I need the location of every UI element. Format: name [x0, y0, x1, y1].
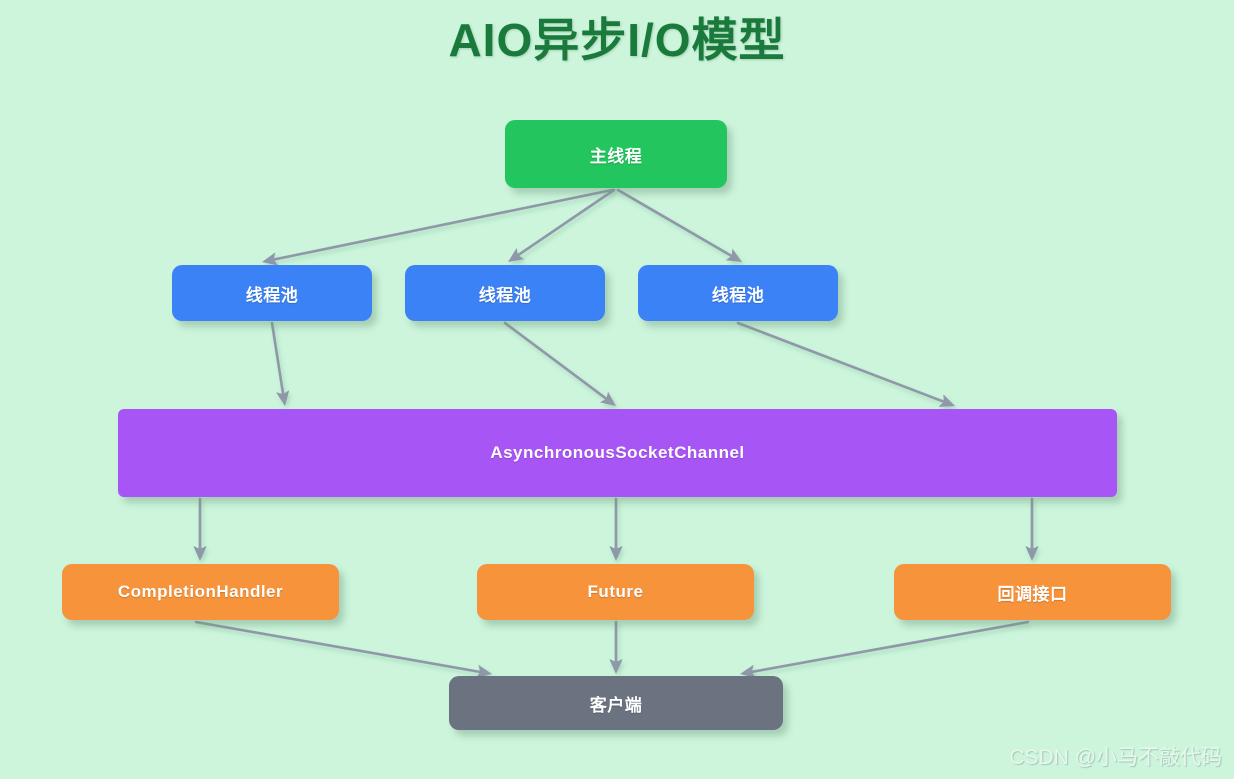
node-thread-pool-2[interactable]: 线程池 — [405, 265, 605, 321]
arrow-main-thread-to-thread-pool-3 — [618, 190, 742, 262]
node-label: CompletionHandler — [118, 582, 283, 602]
node-socket-channel[interactable]: AsynchronousSocketChannel — [118, 409, 1117, 497]
node-label: 线程池 — [246, 281, 299, 306]
node-future[interactable]: Future — [477, 564, 754, 620]
arrow-future-to-client — [609, 622, 622, 674]
watermark: CSDN @小马不敲代码 — [1009, 741, 1222, 771]
node-completion-handler[interactable]: CompletionHandler — [62, 564, 339, 620]
page-title: AIO异步I/O模型 — [0, 4, 1234, 70]
arrow-completion-handler-to-client — [196, 622, 492, 678]
arrow-socket-channel-to-callback-interface — [1025, 499, 1038, 561]
arrow-socket-channel-to-future — [609, 499, 622, 561]
arrow-thread-pool-2-to-socket-channel — [505, 323, 616, 406]
diagram-canvas: AIO异步I/O模型 主线程线程池线程池线程池AsynchronousSocke… — [0, 0, 1234, 779]
node-callback-interface[interactable]: 回调接口 — [894, 564, 1171, 620]
arrow-socket-channel-to-completion-handler — [193, 499, 206, 561]
node-label: AsynchronousSocketChannel — [490, 443, 744, 463]
arrow-main-thread-to-thread-pool-1 — [262, 190, 612, 266]
node-thread-pool-1[interactable]: 线程池 — [172, 265, 372, 321]
node-label: 回调接口 — [998, 580, 1068, 605]
arrow-main-thread-to-thread-pool-2 — [508, 190, 614, 262]
arrow-layer — [0, 0, 1234, 779]
arrow-thread-pool-1-to-socket-channel — [272, 323, 289, 406]
node-label: 主线程 — [590, 142, 643, 167]
node-label: Future — [588, 582, 644, 602]
node-client[interactable]: 客户端 — [449, 676, 783, 730]
node-label: 线程池 — [479, 281, 532, 306]
arrow-callback-interface-to-client — [740, 622, 1028, 678]
node-label: 线程池 — [712, 281, 765, 306]
node-main-thread[interactable]: 主线程 — [505, 120, 727, 188]
node-label: 客户端 — [590, 691, 643, 716]
node-thread-pool-3[interactable]: 线程池 — [638, 265, 838, 321]
arrow-thread-pool-3-to-socket-channel — [738, 323, 955, 407]
